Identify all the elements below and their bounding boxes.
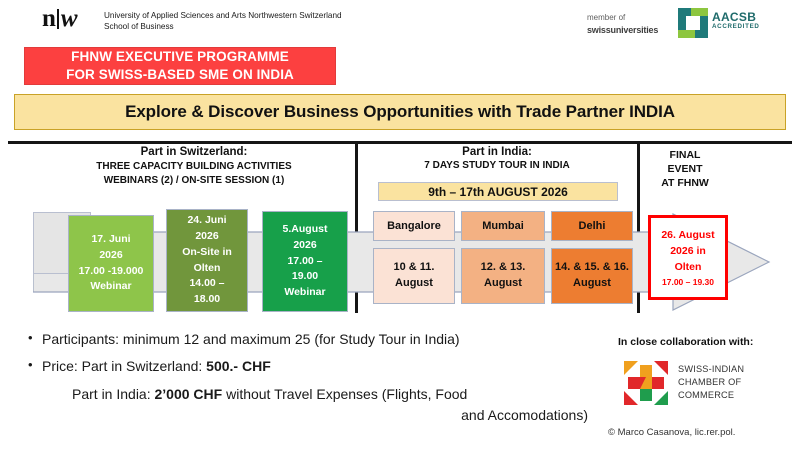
price-india-suffix: without Travel Expenses (Flights, Food — [222, 386, 467, 402]
list-item: • Price: Part in Switzerland: 500.- CHF — [28, 357, 588, 375]
final-heading-line3: AT FHNW — [640, 176, 730, 190]
event-line: Webinar — [90, 279, 131, 295]
price-ch-text: Price: Part in Switzerland: 500.- CHF — [42, 357, 271, 375]
aacsb-mark-icon — [678, 8, 708, 38]
university-name: University of Applied Sciences and Arts … — [104, 10, 342, 21]
event-line: 24. Juni — [187, 213, 226, 229]
event-line: 18.00 — [194, 292, 220, 308]
slide-root: nw University of Applied Sciences and Ar… — [0, 0, 800, 450]
india-sub1: 7 DAYS STUDY TOUR IN INDIA — [360, 160, 634, 171]
india-dates-text: 9th – 17th AUGUST 2026 — [428, 185, 568, 199]
event-line: Olten — [194, 261, 221, 277]
aacsb-name: AACSB — [712, 11, 760, 24]
headline-text: Explore & Discover Business Opportunitie… — [125, 102, 675, 122]
india-city-name: Bangalore — [387, 220, 441, 232]
fhnw-logo-n: n — [42, 5, 55, 32]
university-name-block: University of Applied Sciences and Arts … — [104, 10, 342, 33]
sicc-name-line3: COMMERCE — [678, 389, 744, 402]
india-city-name: Mumbai — [482, 220, 524, 232]
price-india-value: 2’000 CHF — [155, 386, 223, 402]
event-line: 14.00 – — [189, 276, 224, 292]
headline-banner: Explore & Discover Business Opportunitie… — [14, 94, 786, 130]
price-india-line2: and Accomodations) — [72, 405, 588, 425]
switzerland-column-header: Part in Switzerland: THREE CAPACITY BUIL… — [36, 146, 352, 187]
india-city-name: Delhi — [579, 220, 606, 232]
sicc-name: SWISS-INDIAN CHAMBER OF COMMERCE — [678, 363, 744, 402]
details-list: • Participants: minimum 12 and maximum 2… — [28, 330, 588, 425]
switzerland-event-box[interactable]: 5.August 2026 17.00 – 19.00 Webinar — [262, 211, 348, 312]
price-india-label: Part in India: — [72, 386, 155, 402]
aacsb-text: AACSB ACCREDITED — [712, 11, 760, 30]
sicc-cross-icon — [622, 359, 670, 407]
india-city-dates: 10 & 11. August — [374, 260, 454, 292]
event-line: 19.00 — [292, 269, 318, 285]
fhnw-logo: nw — [42, 6, 77, 31]
collaboration-title: In close collaboration with: — [618, 336, 753, 348]
final-event-line1: 26. August — [661, 228, 714, 244]
event-line: 17.00 -19.000 — [79, 264, 144, 280]
switzerland-event-box[interactable]: 24. Juni 2026 On-Site in Olten 14.00 – 1… — [166, 209, 248, 312]
india-city-dates-box[interactable]: 10 & 11. August — [373, 248, 455, 304]
price-ch-label: Price: Part in Switzerland: — [42, 358, 206, 374]
event-line: Webinar — [284, 285, 325, 301]
timeline-horizontal-rule — [8, 141, 792, 144]
event-line: 17.00 – — [287, 254, 322, 270]
switzerland-sub2: WEBINARS (2) / ON-SITE SESSION (1) — [36, 174, 352, 188]
final-event-line4: 17.00 – 19.30 — [662, 277, 714, 287]
final-event-line2: 2026 in — [670, 244, 706, 260]
event-line: 2026 — [99, 248, 122, 264]
programme-banner: FHNW EXECUTIVE PROGRAMME FOR SWISS-BASED… — [24, 47, 336, 85]
programme-banner-line2: FOR SWISS-BASED SME ON INDIA — [66, 66, 294, 84]
sicc-logo: SWISS-INDIAN CHAMBER OF COMMERCE — [622, 359, 782, 407]
event-line: 17. Juni — [91, 232, 130, 248]
price-ch-value: 500.- CHF — [206, 358, 271, 374]
india-column-header: Part in India: 7 DAYS STUDY TOUR IN INDI… — [360, 146, 634, 171]
switzerland-sub1: THREE CAPACITY BUILDING ACTIVITIES — [36, 160, 352, 174]
bullet-icon: • — [28, 357, 42, 375]
india-city-box[interactable]: Delhi — [551, 211, 633, 241]
event-line: 2026 — [293, 238, 316, 254]
school-name: School of Business — [104, 21, 342, 32]
aacsb-status: ACCREDITED — [712, 24, 760, 31]
india-city-dates: 14. & 15. & 16. August — [552, 260, 632, 292]
india-heading: Part in India: — [360, 146, 634, 158]
swissuniversities-block: member of swissuniversities — [587, 12, 658, 38]
bullet-icon: • — [28, 330, 42, 348]
price-india-block: Part in India: 2’000 CHF without Travel … — [72, 384, 588, 425]
india-dates-badge: 9th – 17th AUGUST 2026 — [378, 182, 618, 201]
member-of-label: member of — [587, 12, 658, 24]
india-city-box[interactable]: Mumbai — [461, 211, 545, 241]
final-heading-line2: EVENT — [640, 162, 730, 176]
final-event-box[interactable]: 26. August 2026 in Olten 17.00 – 19.30 — [648, 215, 728, 300]
fhnw-logo-w: w — [61, 5, 77, 32]
event-line: 2026 — [195, 229, 218, 245]
copyright-text: © Marco Casanova, lic.rer.pol. — [608, 427, 735, 438]
switzerland-event-box[interactable]: 17. Juni 2026 17.00 -19.000 Webinar — [68, 215, 154, 312]
aacsb-logo: AACSB ACCREDITED — [678, 8, 774, 38]
sicc-name-line1: SWISS-INDIAN — [678, 363, 744, 376]
fhnw-logo-divider — [57, 9, 59, 29]
swissuniversities-name: swissuniversities — [587, 24, 658, 38]
final-event-line3: Olten — [675, 260, 702, 276]
sicc-name-line2: CHAMBER OF — [678, 376, 744, 389]
event-line: On-Site in — [182, 245, 232, 261]
india-city-dates-box[interactable]: 14. & 15. & 16. August — [551, 248, 633, 304]
switzerland-heading: Part in Switzerland: — [36, 146, 352, 158]
programme-banner-line1: FHNW EXECUTIVE PROGRAMME — [71, 48, 289, 66]
final-column-header: FINAL EVENT AT FHNW — [640, 148, 730, 191]
india-city-dates-box[interactable]: 12. & 13. August — [461, 248, 545, 304]
event-line: 5.August — [283, 222, 328, 238]
india-city-box[interactable]: Bangalore — [373, 211, 455, 241]
participants-text: Participants: minimum 12 and maximum 25 … — [42, 330, 460, 348]
list-item: • Participants: minimum 12 and maximum 2… — [28, 330, 588, 348]
india-city-dates: 12. & 13. August — [462, 260, 544, 292]
final-heading-line1: FINAL — [640, 148, 730, 162]
